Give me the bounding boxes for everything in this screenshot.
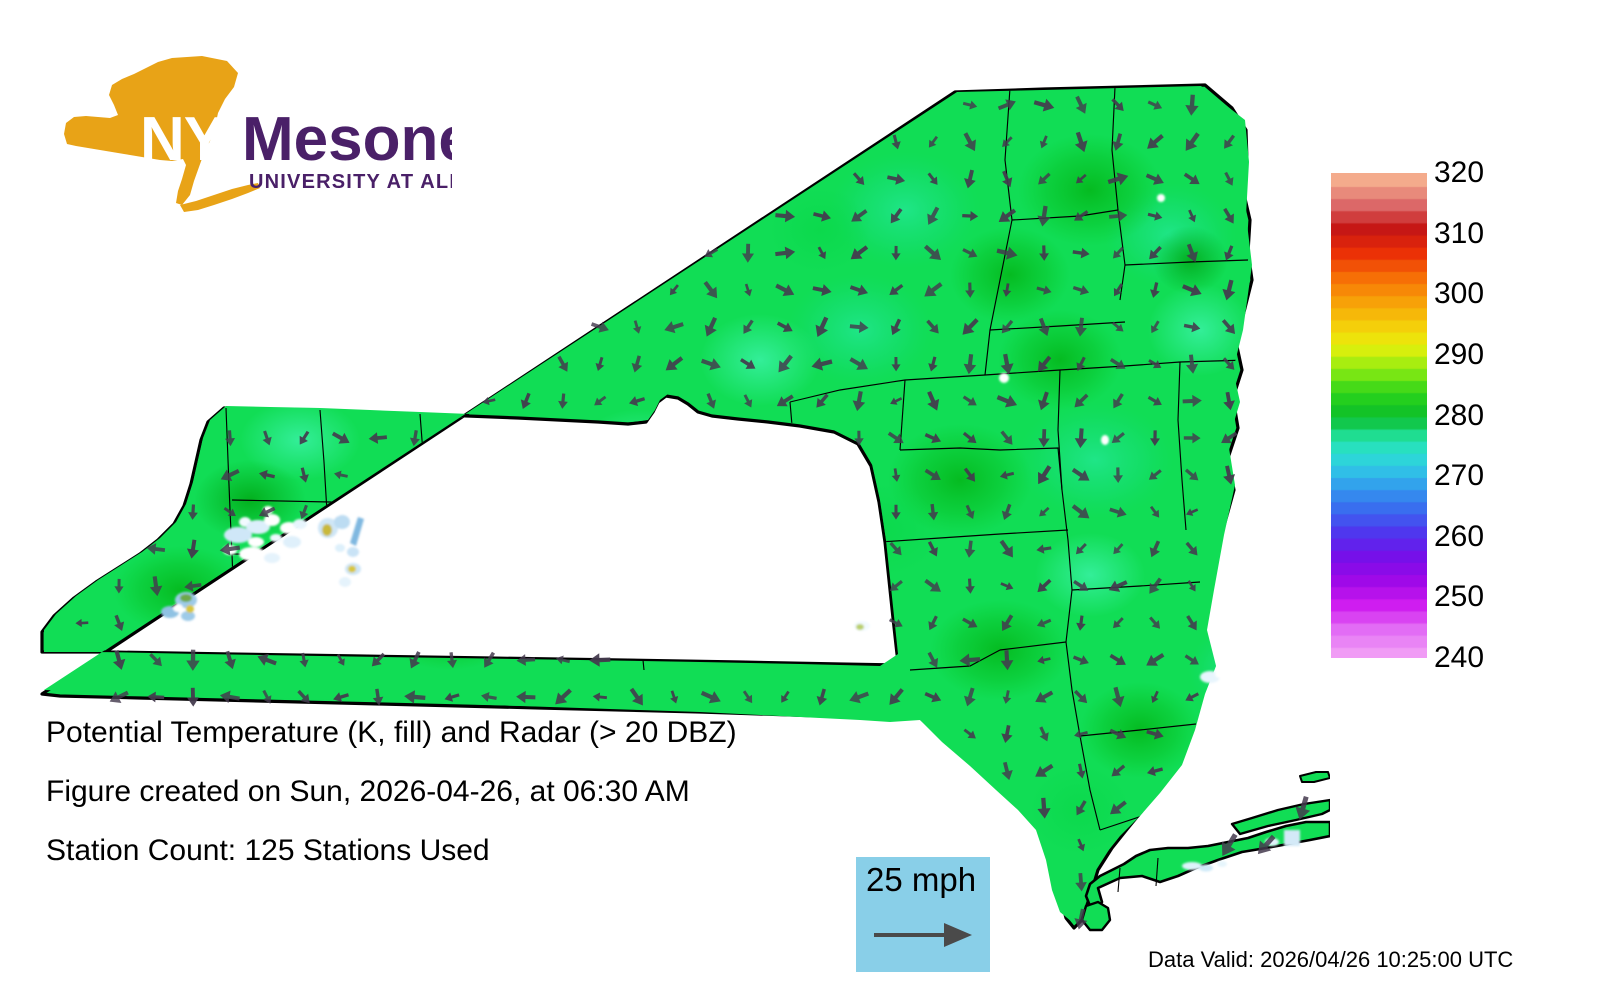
colorbar-tick-270: 270 [1434,461,1484,491]
figure-canvas: NYS Mesonet UNIVERSITY AT ALBANY [0,0,1600,1000]
colorbar-tick-labels: 320310300290280270260250240 [1434,160,1554,672]
wind-key-label: 25 mph [866,861,976,899]
colorbar-tick-290: 290 [1434,340,1484,370]
colorbar-tick-320: 320 [1434,158,1484,188]
caption-created: Figure created on Sun, 2026-04-26, at 06… [46,777,946,807]
temperature-colorbar [1331,173,1427,658]
figure-captions: Potential Temperature (K, fill) and Rada… [46,718,946,895]
staten-island-outline [1082,902,1110,930]
wind-speed-key: 25 mph [856,857,990,972]
colorbar-tick-250: 250 [1434,582,1484,612]
wind-key-arrow-icon [872,915,977,955]
fishers-island-outline [1300,772,1330,782]
colorbar-tick-310: 310 [1434,219,1484,249]
colorbar-tick-260: 260 [1434,522,1484,552]
colorbar-gradient [1331,173,1427,658]
caption-title: Potential Temperature (K, fill) and Rada… [46,718,946,748]
colorbar-tick-300: 300 [1434,279,1484,309]
data-valid-timestamp: Data Valid: 2026/04/26 10:25:00 UTC [1148,948,1513,972]
colorbar-tick-280: 280 [1434,401,1484,431]
colorbar-tick-240: 240 [1434,643,1484,673]
caption-station-count: Station Count: 125 Stations Used [46,836,946,866]
